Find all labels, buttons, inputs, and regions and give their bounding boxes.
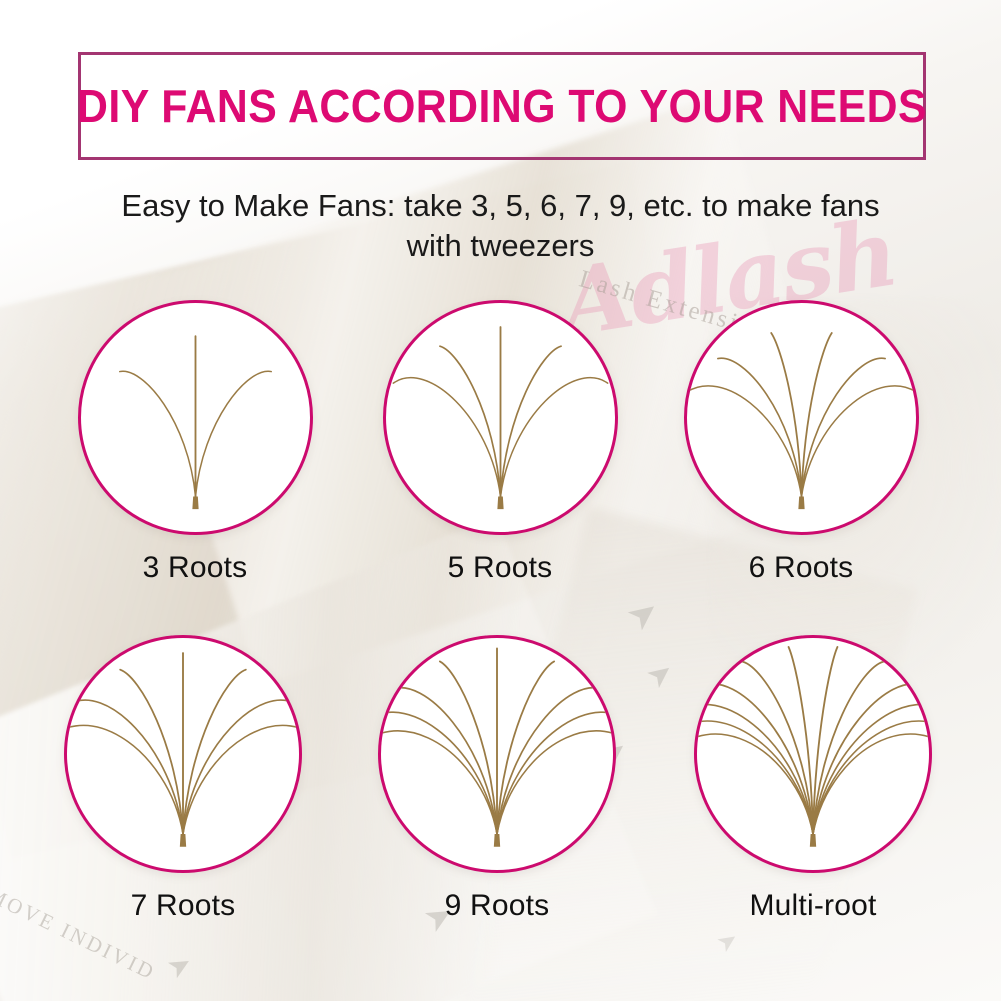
fan-label: 7 Roots (58, 889, 308, 923)
lash-strand (771, 333, 801, 497)
fan-card-9-roots[interactable]: 9 Roots (372, 635, 622, 923)
fan-row-top: 3 Roots 5 Roots 6 Roots (0, 300, 1001, 635)
lash-fan-illustration (81, 303, 310, 532)
lash-strand (497, 661, 554, 834)
fan-card-multi-root[interactable]: Multi-root (688, 635, 938, 923)
fan-circle (78, 300, 313, 535)
lash-strand (813, 662, 883, 834)
lash-fan-illustration (697, 638, 929, 870)
lash-strand (195, 371, 271, 496)
lash-strand (119, 371, 195, 496)
lash-strand (440, 661, 497, 834)
page-title: DIY FANS ACCORDING TO YOUR NEEDS (77, 79, 927, 133)
title-frame: DIY FANS ACCORDING TO YOUR NEEDS (78, 52, 926, 160)
lash-strand (183, 700, 297, 834)
lash-fan-illustration (687, 303, 916, 532)
lash-strand (391, 688, 497, 834)
fan-row-bottom: 7 Roots 9 Roots Multi-root (0, 635, 1001, 970)
lash-strand (69, 700, 183, 834)
fan-label: Multi-root (688, 889, 938, 923)
lash-fan-illustration (381, 638, 613, 870)
fan-card-3-roots[interactable]: 3 Roots (70, 300, 320, 585)
fan-label: 3 Roots (70, 551, 320, 585)
lash-strand (497, 688, 603, 834)
lash-strand (743, 662, 813, 834)
lash-strand (687, 386, 802, 497)
lash-strand (801, 333, 831, 497)
lash-strand (801, 358, 885, 496)
lash-strand (500, 378, 607, 497)
lash-fan-illustration (67, 638, 299, 870)
lash-strand (439, 346, 500, 496)
fan-circle (684, 300, 919, 535)
fan-label: 6 Roots (676, 551, 926, 585)
fan-grid: 3 Roots 5 Roots 6 Roots 7 Roots 9 Roots (0, 300, 1001, 970)
fan-circle (64, 635, 302, 873)
lash-strand (120, 670, 183, 834)
fan-card-6-roots[interactable]: 6 Roots (676, 300, 926, 585)
subtitle-line-1: Easy to Make Fans: take 3, 5, 6, 7, 9, e… (121, 188, 879, 223)
lash-strand (801, 386, 916, 497)
fan-circle (383, 300, 618, 535)
fan-card-5-roots[interactable]: 5 Roots (375, 300, 625, 585)
fan-circle (694, 635, 932, 873)
lash-strand (500, 346, 561, 496)
fan-label: 9 Roots (372, 889, 622, 923)
fan-card-7-roots[interactable]: 7 Roots (58, 635, 308, 923)
lash-strand (717, 358, 801, 496)
infographic-canvas: EMOVE INDIVID ➤ ➤ ➤ ➤ ➤ ➤ Adlash Lash Ex… (0, 0, 1001, 1001)
subtitle: Easy to Make Fans: take 3, 5, 6, 7, 9, e… (0, 186, 1001, 265)
fan-circle (378, 635, 616, 873)
lash-strand (393, 378, 500, 497)
lash-strand (183, 670, 246, 834)
fan-label: 5 Roots (375, 551, 625, 585)
lash-fan-illustration (386, 303, 615, 532)
subtitle-line-2: with tweezers (95, 226, 906, 266)
